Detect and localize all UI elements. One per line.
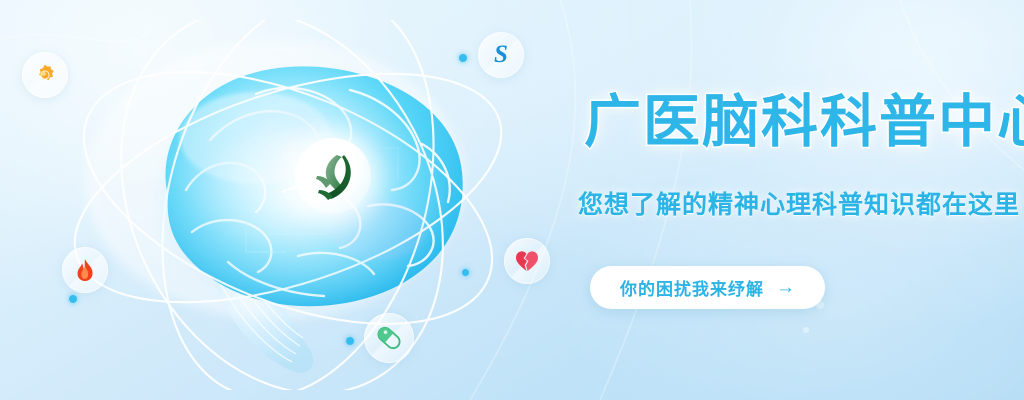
sun-icon (33, 63, 57, 87)
brain-glow (100, 50, 500, 350)
page-subtitle: 您想了解的精神心理科普知识都在这里 (578, 185, 1008, 221)
orbit-dot-top (459, 54, 467, 62)
green-ribbon-icon (311, 152, 355, 200)
flame-icon-bubble[interactable] (62, 247, 108, 293)
orbit-dot-left (69, 295, 77, 303)
awareness-ribbon-badge (295, 138, 371, 214)
broken-heart-icon (515, 250, 539, 272)
orbit-dot-bottom (346, 337, 354, 345)
page-title: 广医脑科科普中心 (584, 92, 1004, 154)
broken-heart-icon-bubble[interactable] (504, 238, 550, 284)
arrow-right-icon: → (776, 278, 795, 297)
capsule-icon-bubble[interactable] (364, 313, 414, 363)
banner-text-content: 广医脑科科普中心 您想了解的精神心理科普知识都在这里 你的困扰我来纾解 → (560, 0, 1024, 400)
capsule-icon (375, 325, 403, 351)
cta-button-label: 你的困扰我来纾解 (620, 275, 764, 300)
brain-artwork (60, 20, 530, 390)
letter-s-icon-bubble[interactable]: S (478, 32, 524, 78)
sun-icon-bubble[interactable] (22, 52, 68, 98)
letter-s-icon: S (494, 41, 508, 69)
orbit-dot-right (462, 269, 469, 276)
flame-icon (74, 258, 96, 282)
brain-science-hero-banner: S 广医脑科科普中心 您想了解的精神心理科普知识都在这里 (0, 0, 1024, 400)
cta-button[interactable]: 你的困扰我来纾解 → (590, 266, 825, 309)
